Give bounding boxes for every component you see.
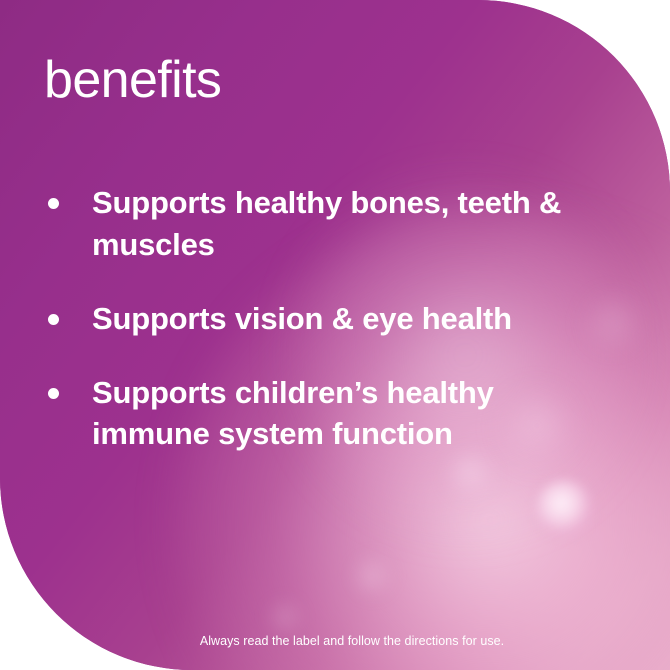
benefits-list: Supports healthy bones, teeth & muscles … <box>44 182 614 455</box>
list-item-label: Supports children’s healthy immune syste… <box>92 375 494 452</box>
list-item: Supports children’s healthy immune syste… <box>44 372 614 456</box>
bullet-dot-icon <box>48 388 59 399</box>
card-content: benefits Supports healthy bones, teeth &… <box>0 0 670 670</box>
list-item-label: Supports healthy bones, teeth & muscles <box>92 185 561 262</box>
list-item: Supports vision & eye health <box>44 298 614 340</box>
list-item: Supports healthy bones, teeth & muscles <box>44 182 614 266</box>
benefits-card: benefits Supports healthy bones, teeth &… <box>0 0 670 670</box>
bullet-dot-icon <box>48 198 59 209</box>
list-item-label: Supports vision & eye health <box>92 301 512 336</box>
bullet-dot-icon <box>48 314 59 325</box>
page-title: benefits <box>44 52 221 108</box>
legal-footnote: Always read the label and follow the dir… <box>0 634 670 649</box>
